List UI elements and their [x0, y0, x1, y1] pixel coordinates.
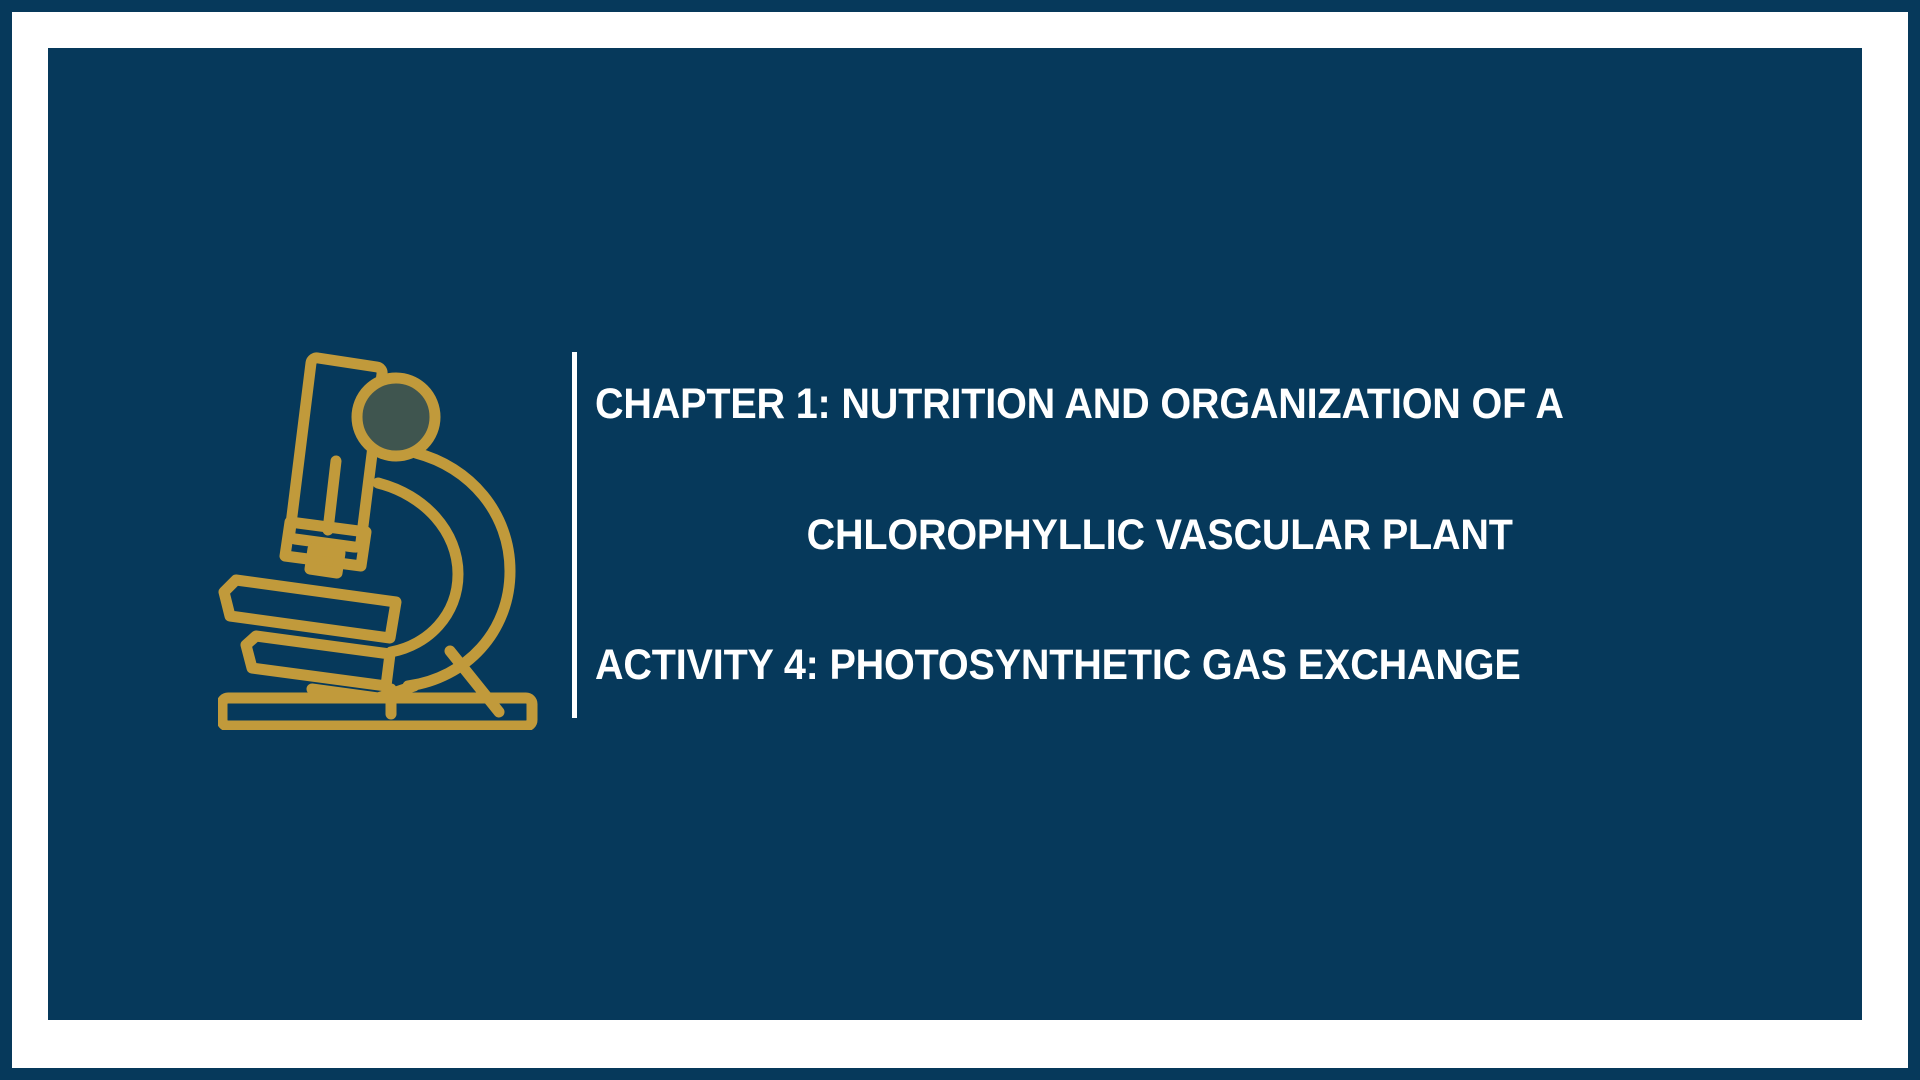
title-block: CHAPTER 1: NUTRITION AND ORGANIZATION OF…: [218, 340, 1618, 730]
microscope-icon: [218, 340, 548, 730]
slide-title-line-2: CHLOROPHYLLIC VASCULAR PLANT: [595, 513, 1564, 558]
microscope-icon-graphic: [218, 340, 548, 730]
slide-title-line-1: CHAPTER 1: NUTRITION AND ORGANIZATION OF…: [595, 382, 1564, 427]
microscope-stage-upper: [224, 580, 396, 638]
title-text-column: CHAPTER 1: NUTRITION AND ORGANIZATION OF…: [577, 352, 1648, 718]
slide-white-gutter: CHAPTER 1: NUTRITION AND ORGANIZATION OF…: [12, 12, 1908, 1068]
microscope-focus-knob-lens: [357, 378, 435, 456]
microscope-base: [222, 698, 532, 726]
content-panel: CHAPTER 1: NUTRITION AND ORGANIZATION OF…: [48, 48, 1862, 1020]
slide-subtitle-activity: ACTIVITY 4: PHOTOSYNTHETIC GAS EXCHANGE: [595, 643, 1564, 688]
microscope-stage-lower: [246, 636, 390, 686]
microscope-tube-inner-line: [328, 461, 336, 530]
slide-frame: CHAPTER 1: NUTRITION AND ORGANIZATION OF…: [0, 0, 1920, 1080]
